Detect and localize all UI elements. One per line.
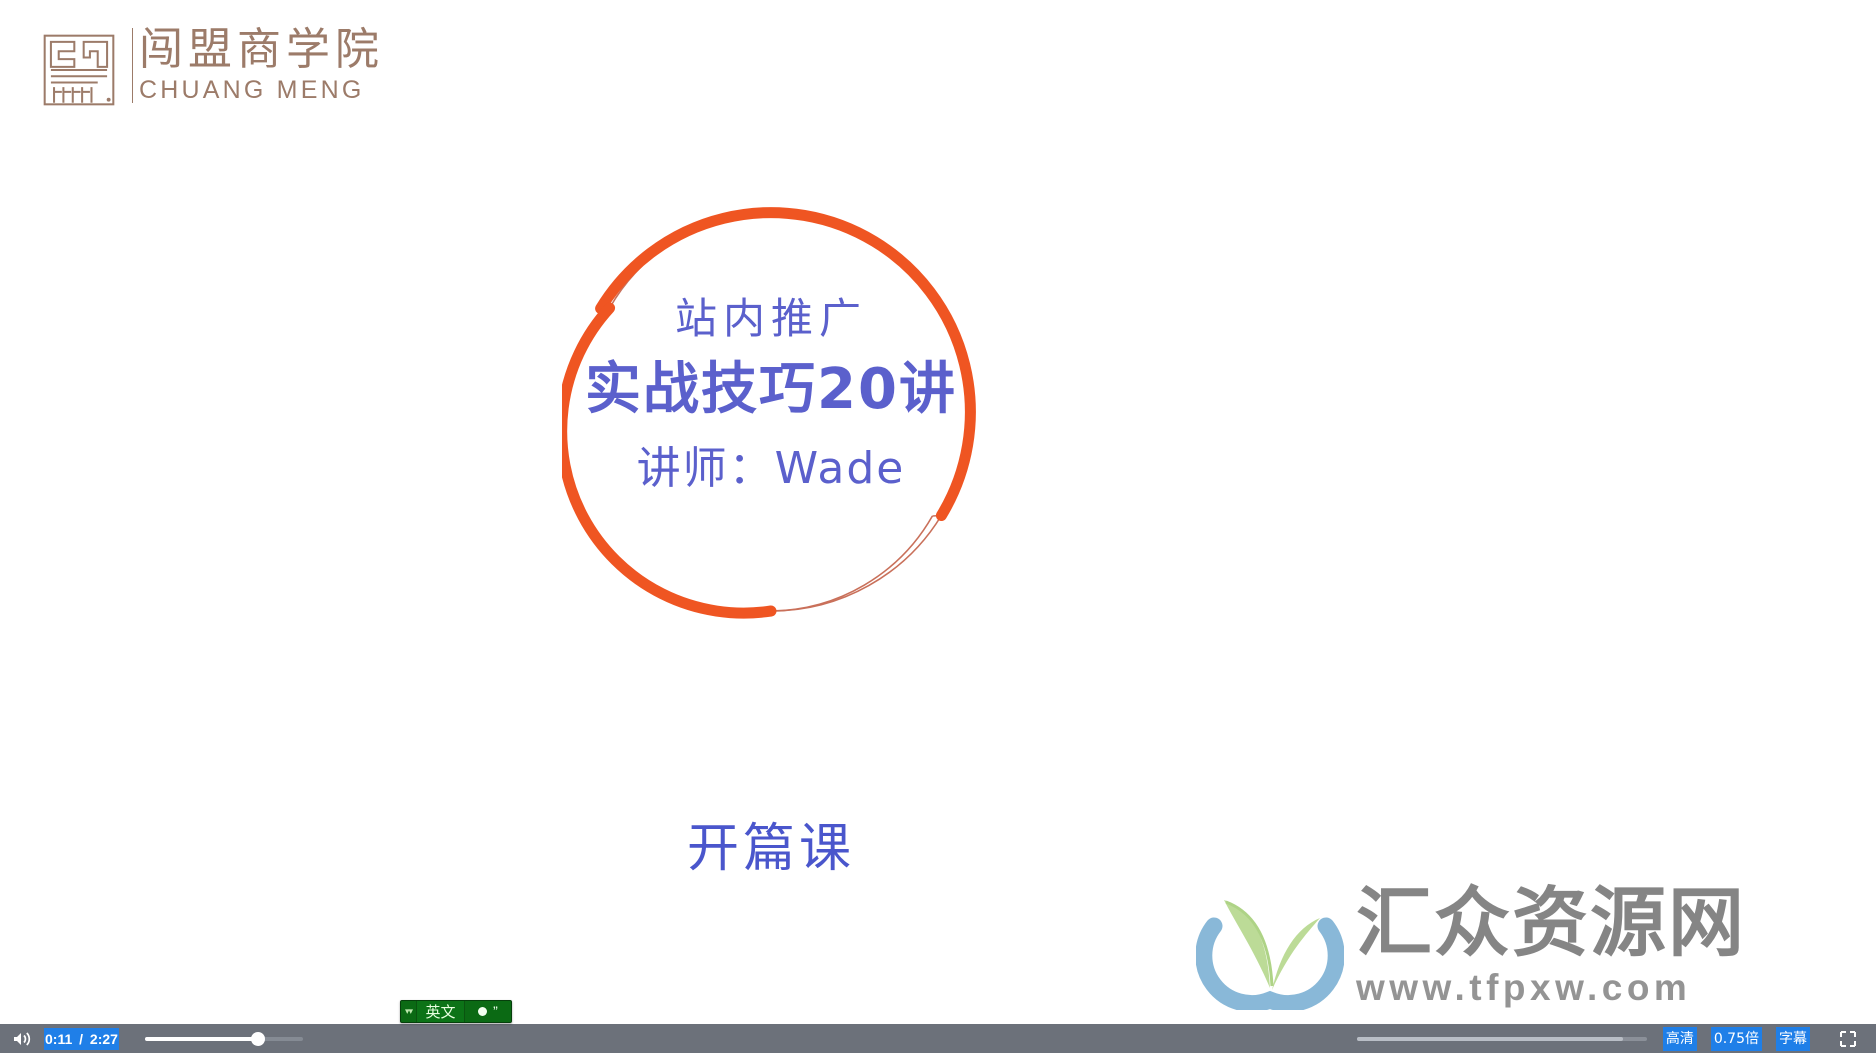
volume-slider[interactable]	[145, 1031, 303, 1047]
video-player-screen: 闯盟商学院 CHUANG MENG 站内推广 实战技	[0, 0, 1876, 1053]
course-subtitle: 开篇课	[562, 806, 980, 881]
speed-button[interactable]: 0.75倍	[1711, 1027, 1762, 1051]
watermark-site-url: www.tfpxw.com	[1356, 969, 1746, 1006]
ime-status-dot-icon[interactable]	[478, 1007, 487, 1016]
brand-name-cn: 闯盟商学院	[139, 28, 384, 72]
ime-punctuation-icon[interactable]: ”	[493, 1007, 498, 1015]
brand-logo: 闯盟商学院 CHUANG MENG	[40, 28, 384, 109]
volume-knob[interactable]	[251, 1032, 265, 1046]
time-separator: /	[77, 1028, 85, 1050]
subtitles-button[interactable]: 字幕	[1776, 1027, 1810, 1051]
course-teacher: 讲师：Wade	[562, 440, 980, 497]
video-surface[interactable]: 闯盟商学院 CHUANG MENG 站内推广 实战技	[0, 0, 1876, 1024]
current-time: 0:11	[44, 1028, 73, 1050]
player-control-bar: 0:11 / 2:27 高清 0.75倍 字幕	[0, 1024, 1876, 1053]
slide-title-stack: 站内推广 实战技巧20讲 讲师：Wade	[562, 293, 980, 497]
brand-text-block: 闯盟商学院 CHUANG MENG	[132, 28, 384, 103]
watermark-site-name: 汇众资源网	[1356, 885, 1746, 961]
total-time: 2:27	[89, 1028, 119, 1050]
site-watermark: 汇众资源网 www.tfpxw.com	[1196, 866, 1856, 1024]
seal-stamp-icon	[40, 31, 118, 109]
course-kicker: 站内推广	[562, 293, 980, 346]
ime-drag-handle-icon[interactable]: ▾▾	[401, 1001, 417, 1022]
player-left-controls: 0:11 / 2:27	[0, 1024, 303, 1053]
player-right-controls: 高清 0.75倍 字幕	[1663, 1024, 1876, 1053]
exit-fullscreen-icon[interactable]	[1834, 1030, 1862, 1048]
progress-fill	[1357, 1037, 1623, 1041]
time-readout[interactable]: 0:11 / 2:27	[44, 1028, 119, 1050]
brand-name-en: CHUANG MENG	[139, 78, 384, 103]
speaker-volume-icon[interactable]	[0, 1031, 44, 1047]
ime-language-label[interactable]: 英文	[417, 1001, 465, 1022]
ime-tools-group[interactable]: ”	[465, 1001, 511, 1022]
volume-fill	[145, 1037, 259, 1041]
quality-button[interactable]: 高清	[1663, 1027, 1697, 1051]
leaf-circle-logo-icon	[1196, 880, 1344, 1010]
playback-progress-bar[interactable]	[1357, 1031, 1647, 1047]
ime-toolbar[interactable]: ▾▾ 英文 ”	[400, 1000, 512, 1023]
course-main-title: 实战技巧20讲	[562, 354, 980, 427]
watermark-text: 汇众资源网 www.tfpxw.com	[1356, 885, 1746, 1006]
